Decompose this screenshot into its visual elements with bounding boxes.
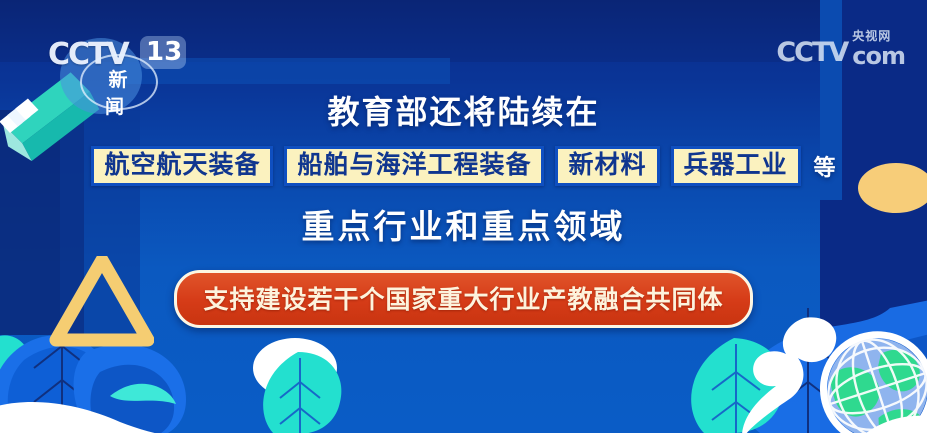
industry-tag: 新材料 <box>555 146 659 186</box>
industry-tag-row: 航空航天装备 船舶与海洋工程装备 新材料 兵器工业 等 <box>91 146 835 186</box>
cctv13-logo: CCTV 13 新闻 <box>42 16 192 98</box>
subline-text: 重点行业和重点领域 <box>302 200 626 248</box>
industry-tag: 航空航天装备 <box>91 146 273 186</box>
broadcast-graphic: CCTV 13 新闻 CCTV 央视网 com 教育部还将陆续在 航空航天装备 … <box>0 0 927 433</box>
industry-tag: 船舶与海洋工程装备 <box>284 146 544 186</box>
cctv-com-watermark: CCTV 央视网 com <box>776 26 905 68</box>
headline-text: 教育部还将陆续在 <box>327 92 599 132</box>
logo-channel-number: 13 <box>146 37 182 67</box>
watermark-chinese: 央视网 <box>852 30 891 42</box>
white-dot-mid <box>250 336 340 406</box>
highlight-pill-text: 支持建设若干个国家重大行业产教融合共同体 <box>203 286 723 314</box>
watermark-right-group: 央视网 com <box>852 30 905 68</box>
white-cloud-left <box>0 386 240 433</box>
main-content: 教育部还将陆续在 航空航天装备 船舶与海洋工程装备 新材料 兵器工业 等 重点行… <box>0 92 927 328</box>
leaf-cluster-mid <box>250 352 390 433</box>
leaf-cluster-right <box>678 338 818 433</box>
tag-suffix-text: 等 <box>814 150 836 182</box>
industry-tag: 兵器工业 <box>671 146 801 186</box>
highlight-pill: 支持建设若干个国家重大行业产教融合共同体 <box>174 270 752 328</box>
watermark-domain: com <box>852 44 905 68</box>
watermark-brand: CCTV <box>776 37 847 68</box>
